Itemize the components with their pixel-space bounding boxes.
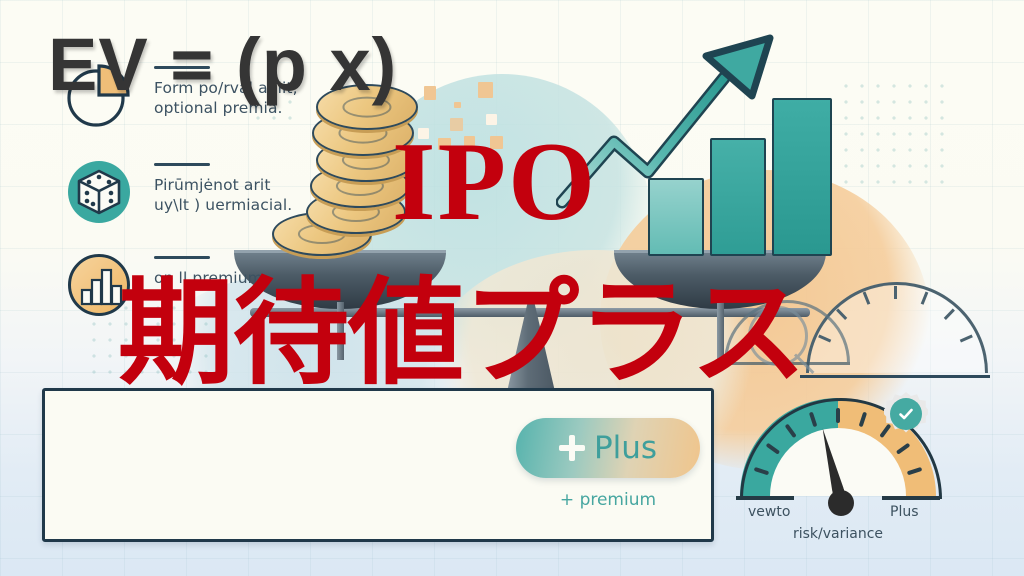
gauge-foot-right — [882, 496, 940, 500]
dot-pattern-top-right — [838, 78, 948, 188]
feature-rule — [154, 163, 210, 166]
formula-expression: EV = (p x) — [48, 22, 397, 107]
plus-pill-label: Plus — [594, 430, 657, 466]
premium-sub-label: + premium — [516, 490, 700, 510]
gauge-foot-left — [736, 496, 794, 500]
check-badge-icon — [884, 392, 928, 436]
feature-rule — [154, 256, 210, 259]
gauge-needle-cap — [828, 490, 854, 516]
feature-text: Pirūmjėnot arit uy\lt ) uermiacial. — [154, 176, 292, 216]
overlay-headline-jp: 期待値プラス — [118, 276, 806, 392]
feature-item-1: Pirūmjėnot arit uy\lt ) uermiacial. — [62, 155, 332, 229]
dice-icon — [62, 155, 136, 229]
gauge-label-left: vewto — [748, 504, 790, 520]
plus-pill-badge[interactable]: Plus — [516, 418, 700, 478]
poster-canvas: Form po/rval anlit, optional premia. Pir — [0, 0, 1024, 576]
gauge-label-right: Plus — [890, 504, 919, 520]
gauge-caption: risk/variance — [740, 526, 936, 542]
overlay-headline-en: IPO — [392, 126, 597, 238]
plus-icon — [559, 435, 585, 461]
